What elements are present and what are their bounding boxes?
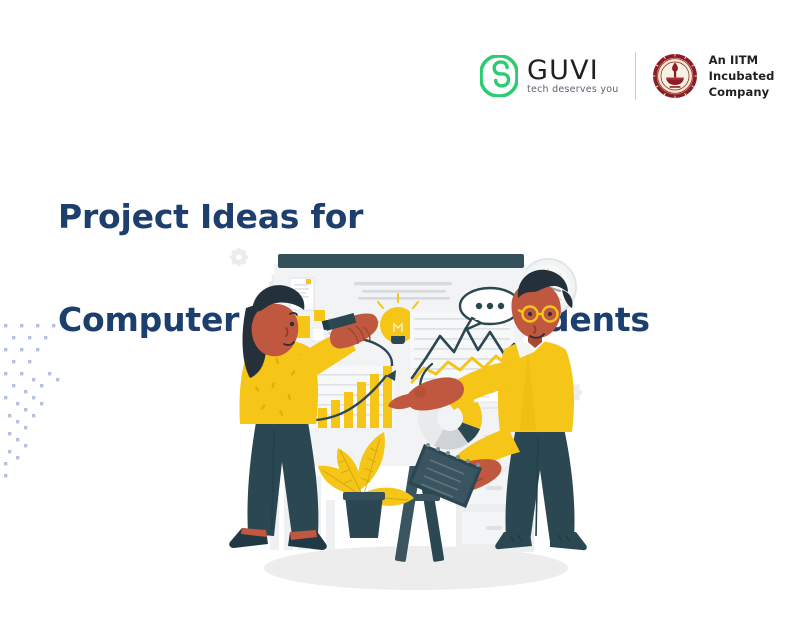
board-bar-chart [310, 366, 396, 428]
banner-canvas: GUVI tech deserves you [0, 0, 800, 617]
iitm-seal-icon [652, 53, 698, 99]
iitm-text-line-2: Incubated [709, 68, 775, 84]
team-presenting-at-whiteboard-illustration [228, 232, 608, 607]
guvi-logo: GUVI tech deserves you [480, 55, 635, 97]
guvi-wordmark-group: GUVI tech deserves you [527, 57, 619, 95]
iitm-logo: An IITM Incubated Company [652, 52, 775, 101]
guvi-tagline: tech deserves you [527, 85, 619, 95]
iitm-text-line-1: An IITM [709, 52, 775, 68]
sticky-note-white [312, 328, 325, 341]
dotted-triangle-pattern [0, 322, 62, 504]
guvi-infinity-g-mark-icon [480, 55, 518, 97]
guvi-wordmark: GUVI [527, 57, 619, 84]
sticky-note-yellow-small [314, 310, 325, 321]
floor-shadow [264, 546, 568, 590]
man-shoe-right [550, 532, 587, 550]
logo-divider [635, 52, 636, 100]
iitm-text-line-3: Company [709, 84, 775, 100]
iitm-incubated-text: An IITM Incubated Company [709, 52, 775, 101]
logo-lockup: GUVI tech deserves you [480, 48, 774, 104]
plant-pot [345, 496, 383, 538]
